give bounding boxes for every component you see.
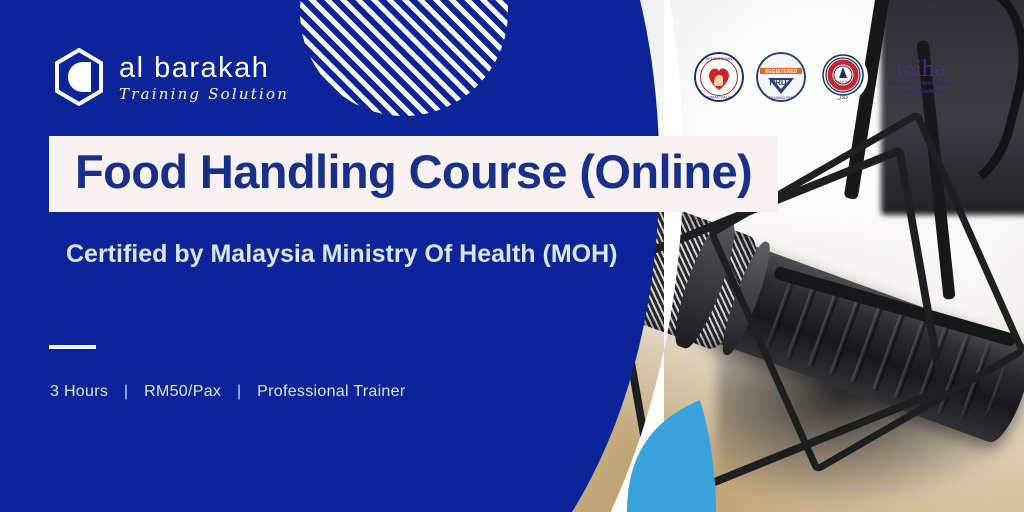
svg-text:حلال: حلال xyxy=(837,94,849,101)
meta-trainer: Professional Trainer xyxy=(257,383,405,400)
svg-text:KESIHATAN MALAYSIA: KESIHATAN MALAYSIA xyxy=(700,96,739,100)
moh-badge: KEMENTERIAN KESIHATAN MALAYSIA xyxy=(694,52,744,102)
brand-logo[interactable]: al barakah Training Solution xyxy=(53,48,289,106)
brand-tagline: Training Solution xyxy=(119,85,289,103)
title-band: Food Handling Course (Online) xyxy=(49,136,778,212)
course-meta: 3 Hours | RM50/Pax | Professional Traine… xyxy=(50,381,405,403)
miha-subtitle: Malaysia International Halal Academy xyxy=(880,80,962,96)
subtitle: Certified by Malaysia Ministry Of Health… xyxy=(66,238,618,270)
divider-rule xyxy=(49,345,96,349)
svg-text:CORP TRAINING PROVIDER: CORP TRAINING PROVIDER xyxy=(758,96,804,100)
meta-separator-2: | xyxy=(226,381,252,403)
miha-wordmark-icon: miha xyxy=(896,58,947,80)
meta-duration: 3 Hours xyxy=(50,383,108,400)
svg-text:KEMENTERIAN: KEMENTERIAN xyxy=(706,57,732,61)
svg-text:JAKIM: JAKIM xyxy=(837,79,849,84)
meta-price: RM50/Pax xyxy=(144,383,221,400)
hrd-corp-badge: REGISTERED HRD CORP TRAINING PROVIDER xyxy=(756,52,806,102)
light-blue-wedge xyxy=(627,400,716,512)
svg-text:HRD: HRD xyxy=(769,78,787,87)
meta-separator-1: | xyxy=(113,381,139,403)
svg-text:REGISTERED: REGISTERED xyxy=(765,69,798,75)
brand-name: al barakah xyxy=(119,52,289,84)
page-title: Food Handling Course (Online) xyxy=(75,144,752,200)
hexagon-logo-icon xyxy=(53,48,105,106)
miha-badge: miha Malaysia International Halal Academ… xyxy=(880,58,962,96)
course-promo-banner: al barakah Training Solution KEMENTERIAN… xyxy=(0,0,1024,512)
jakim-badge: JAKIM حلال xyxy=(818,52,868,102)
certification-badges: KEMENTERIAN KESIHATAN MALAYSIA REGISTERE… xyxy=(694,52,962,102)
